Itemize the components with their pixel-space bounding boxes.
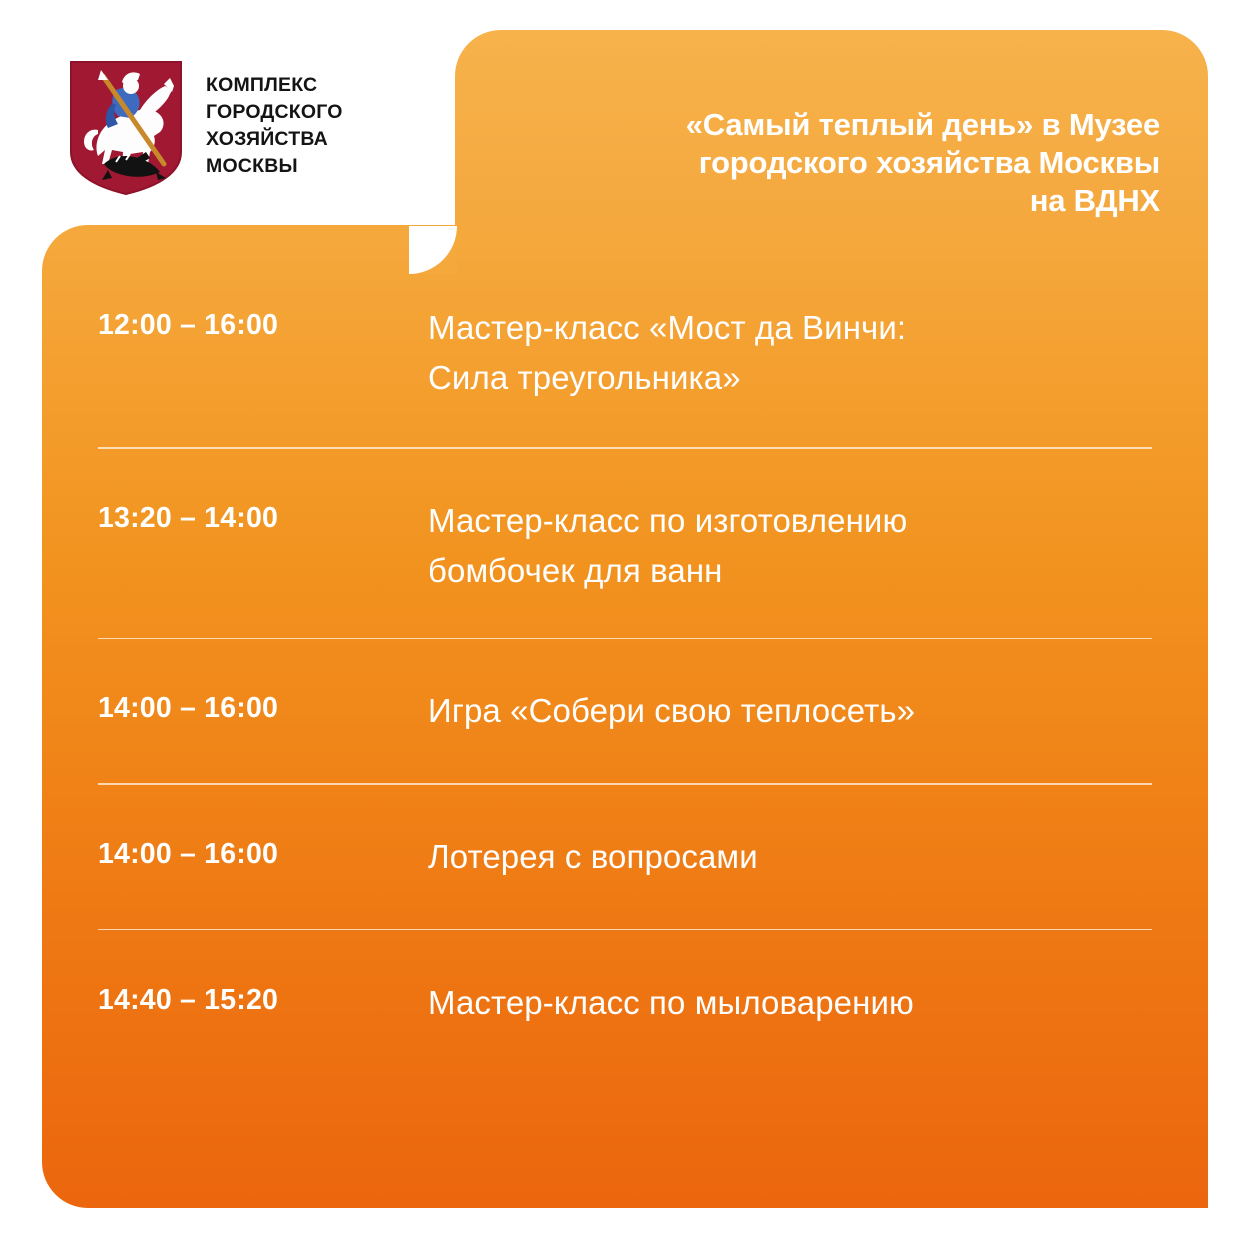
table-row: 13:20 – 14:00 Мастер-класс по изготовлен… <box>42 449 1208 596</box>
row-spacer <box>42 885 1208 929</box>
row-spacer <box>42 739 1208 783</box>
table-row: 14:40 – 15:20 Мастер-класс по мыловарени… <box>42 930 1208 1030</box>
event-schedule-poster: «Самый теплый день» в Музее городского х… <box>0 0 1250 1250</box>
moscow-coat-of-arms-icon <box>68 60 184 196</box>
row-description: Игра «Собери свою теплосеть» <box>428 686 1208 736</box>
row-description: Мастер-класс по мыловарению <box>428 978 1208 1028</box>
row-description: Лотерея с вопросами <box>428 832 1208 882</box>
row-time: 14:40 – 15:20 <box>98 978 428 1019</box>
header-banner: «Самый теплый день» в Музее городского х… <box>455 30 1208 226</box>
row-description: Мастер-класс по изготовлению бомбочек дл… <box>428 496 1208 596</box>
row-time: 14:00 – 16:00 <box>98 686 428 727</box>
logo-lockup: КОМПЛЕКС ГОРОДСКОГО ХОЗЯЙСТВА МОСКВЫ <box>68 60 343 196</box>
table-row: 14:00 – 16:00 Лотерея с вопросами <box>42 785 1208 885</box>
row-spacer <box>42 403 1208 447</box>
logo-text: КОМПЛЕКС ГОРОДСКОГО ХОЗЯЙСТВА МОСКВЫ <box>206 60 343 180</box>
row-time: 14:00 – 16:00 <box>98 832 428 873</box>
table-row: 14:00 – 16:00 Игра «Собери свою теплосет… <box>42 639 1208 739</box>
schedule-list: 12:00 – 16:00 Мастер-класс «Мост да Винч… <box>42 225 1208 1208</box>
row-description: Мастер-класс «Мост да Винчи: Сила треуго… <box>428 303 1208 403</box>
row-time: 12:00 – 16:00 <box>98 303 428 344</box>
page-title: «Самый теплый день» в Музее городского х… <box>540 106 1160 220</box>
table-row: 12:00 – 16:00 Мастер-класс «Мост да Винч… <box>42 258 1208 403</box>
row-time: 13:20 – 14:00 <box>98 496 428 537</box>
row-spacer <box>42 596 1208 638</box>
